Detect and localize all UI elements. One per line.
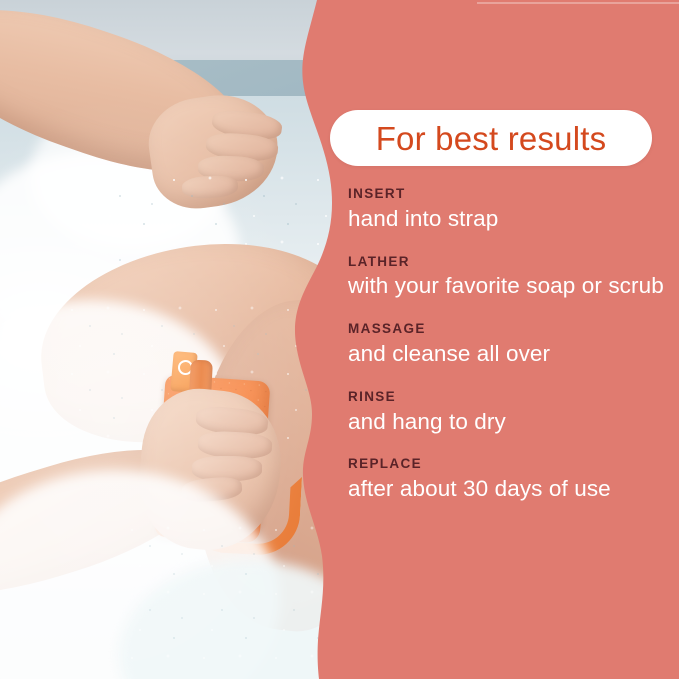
step-text-insert: hand into strap: [348, 205, 676, 233]
bath-photo: [0, 0, 345, 679]
step-insert: INSERT hand into strap: [348, 186, 676, 233]
step-label-rinse: RINSE: [348, 389, 676, 406]
step-text-lather: with your favorite soap or scrub: [348, 272, 676, 300]
step-lather: LATHER with your favorite soap or scrub: [348, 254, 676, 301]
product-instruction-poster: For best results INSERT hand into strap …: [0, 0, 679, 679]
steps-list: INSERT hand into strap LATHER with your …: [348, 186, 676, 503]
step-label-replace: REPLACE: [348, 456, 676, 473]
photo-canvas: [0, 0, 345, 679]
step-label-lather: LATHER: [348, 254, 676, 271]
instructions-panel: For best results INSERT hand into strap …: [328, 0, 679, 679]
step-rinse: RINSE and hang to dry: [348, 389, 676, 436]
step-text-replace: after about 30 days of use: [348, 475, 676, 503]
step-text-rinse: and hang to dry: [348, 408, 676, 436]
step-label-massage: MASSAGE: [348, 321, 676, 338]
page-title: For best results: [376, 122, 607, 155]
step-massage: MASSAGE and cleanse all over: [348, 321, 676, 368]
step-text-massage: and cleanse all over: [348, 340, 676, 368]
bubble-texture: [120, 520, 345, 670]
step-replace: REPLACE after about 30 days of use: [348, 456, 676, 503]
title-pill: For best results: [330, 110, 652, 166]
step-label-insert: INSERT: [348, 186, 676, 203]
